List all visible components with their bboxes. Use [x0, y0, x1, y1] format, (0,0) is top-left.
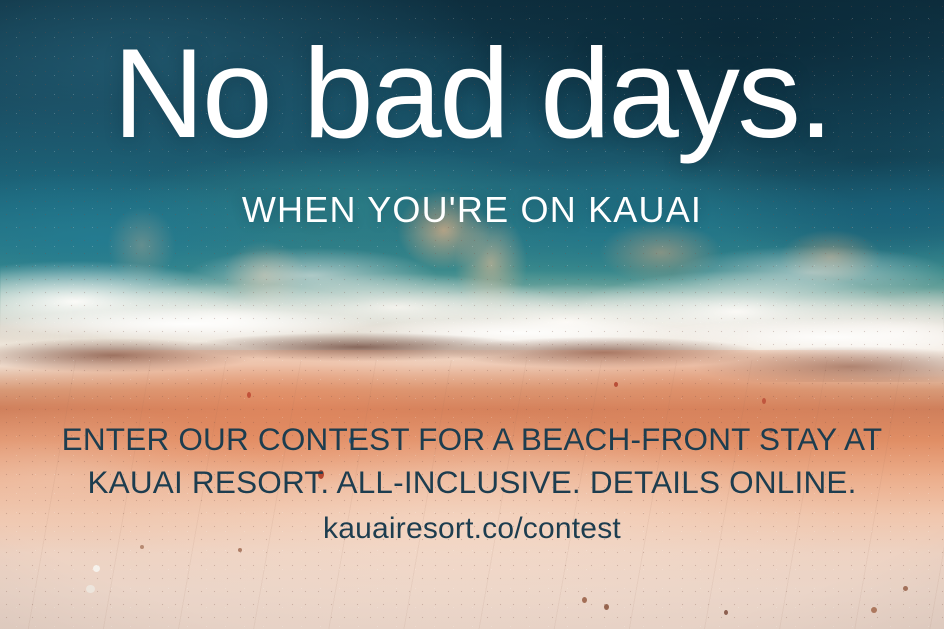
headline: No bad days.	[0, 30, 944, 157]
poster-canvas: No bad days. WHEN YOU'RE ON KAUAI ENTER …	[0, 0, 944, 629]
body-copy: ENTER OUR CONTEST FOR A BEACH-FRONT STAY…	[0, 418, 944, 504]
poster-content: No bad days. WHEN YOU'RE ON KAUAI ENTER …	[0, 0, 944, 629]
body-copy-line-2: KAUAI RESORT. ALL-INCLUSIVE. DETAILS ONL…	[0, 461, 944, 504]
contest-url[interactable]: kauairesort.co/contest	[0, 511, 944, 547]
subheadline: WHEN YOU'RE ON KAUAI	[0, 190, 944, 230]
body-copy-line-1: ENTER OUR CONTEST FOR A BEACH-FRONT STAY…	[0, 418, 944, 461]
